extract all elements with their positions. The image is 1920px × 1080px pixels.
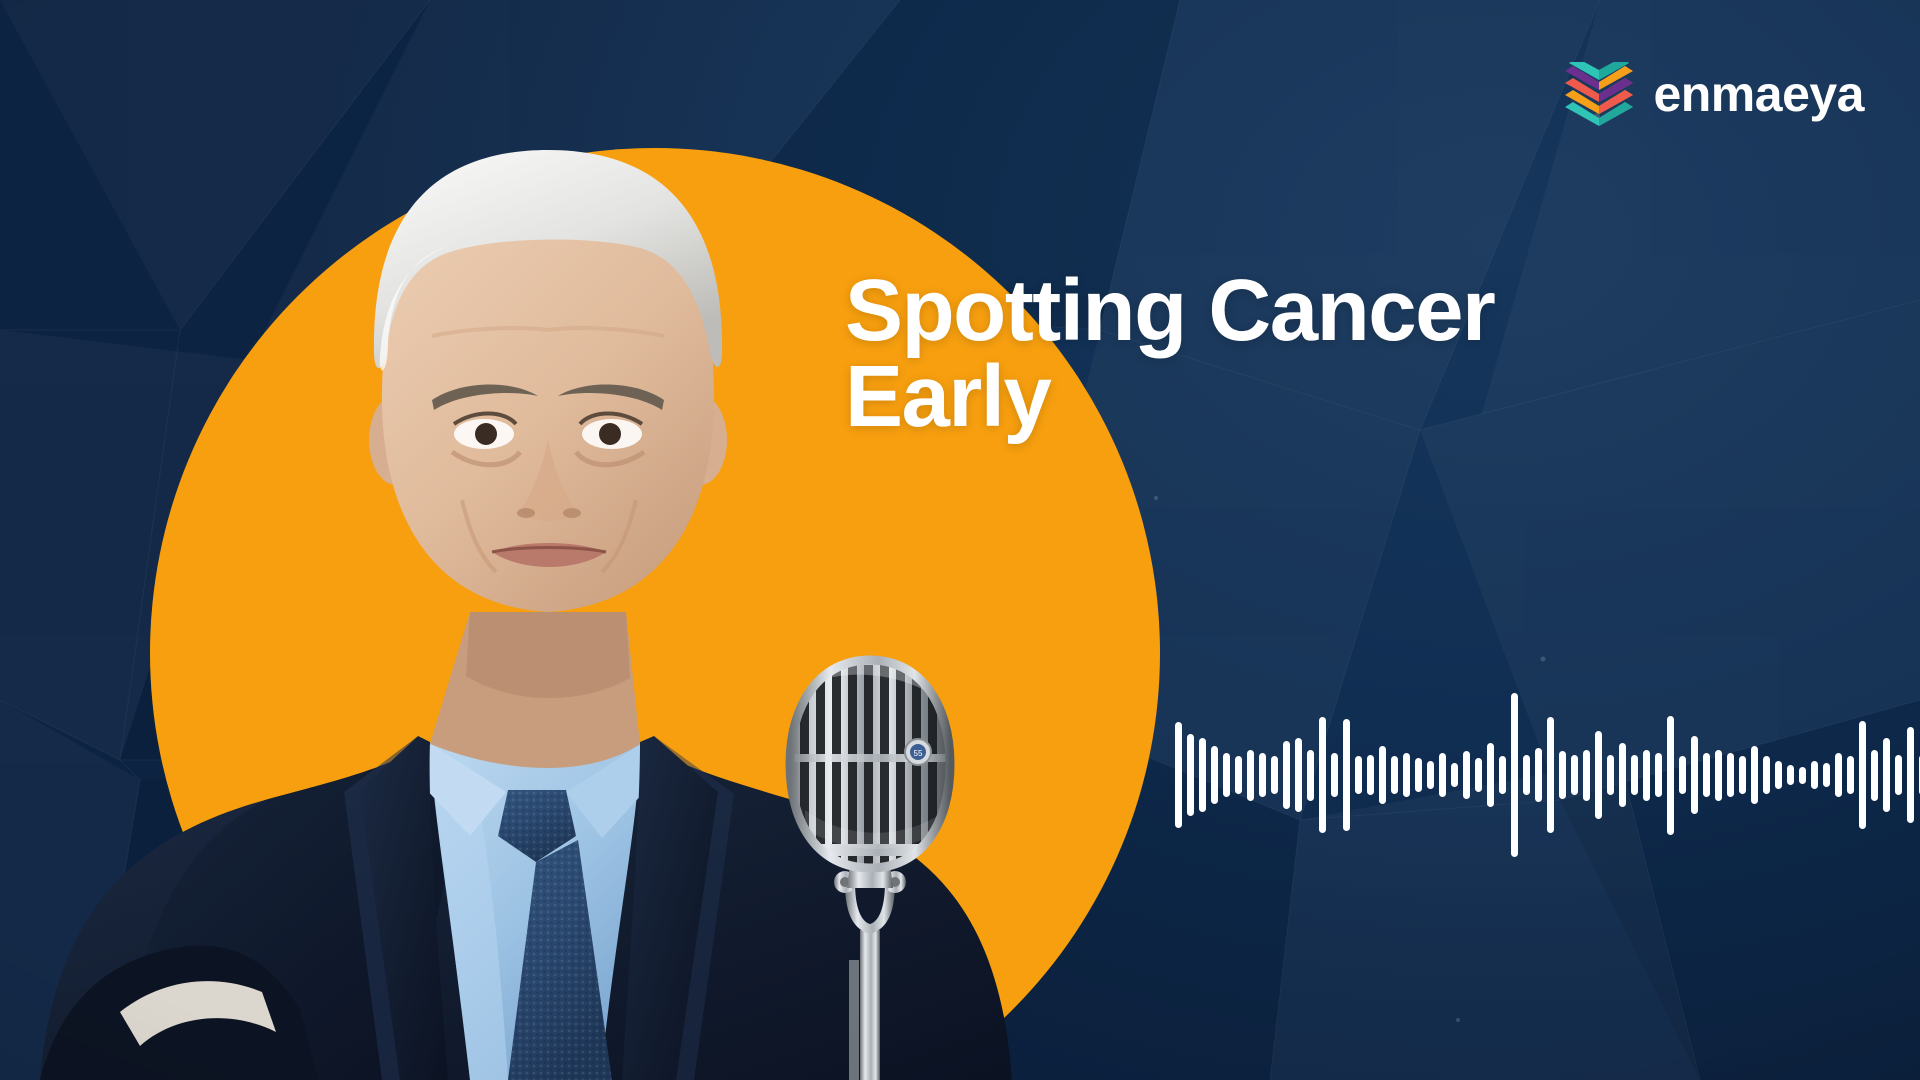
waveform-bar: [1331, 753, 1338, 797]
waveform-bar: [1643, 750, 1650, 801]
waveform-bar: [1451, 763, 1458, 787]
waveform-bar: [1223, 753, 1230, 797]
waveform-bar: [1703, 753, 1710, 797]
retro-microphone-icon: 55: [745, 630, 995, 1080]
waveform-bar: [1883, 738, 1890, 813]
waveform-bar: [1679, 756, 1686, 793]
waveform-bar: [1283, 741, 1290, 809]
waveform-bar: [1367, 755, 1374, 796]
waveform-bar: [1403, 753, 1410, 797]
svg-text:55: 55: [914, 749, 923, 758]
brand-logo[interactable]: enmaeya: [1561, 62, 1864, 126]
waveform-bar: [1499, 756, 1506, 793]
waveform-bar: [1607, 755, 1614, 796]
waveform-bar: [1439, 753, 1446, 797]
waveform-bar: [1571, 755, 1578, 796]
waveform-bar: [1667, 716, 1674, 835]
waveform-bar: [1259, 753, 1266, 797]
waveform-bar: [1307, 750, 1314, 801]
waveform-bar: [1751, 746, 1758, 804]
waveform-bar: [1211, 746, 1218, 804]
waveform-bar: [1715, 750, 1722, 801]
waveform-bar: [1319, 717, 1326, 833]
waveform-bar: [1511, 693, 1518, 856]
waveform-bar: [1487, 743, 1494, 808]
waveform-bar: [1187, 734, 1194, 816]
waveform-bar: [1427, 761, 1434, 788]
stacked-chevron-icon: [1561, 62, 1637, 126]
waveform-bar: [1595, 731, 1602, 819]
waveform-bar: [1811, 761, 1818, 788]
waveform-bar: [1199, 738, 1206, 813]
waveform-bar: [1583, 750, 1590, 801]
waveform-bar: [1835, 753, 1842, 797]
waveform-bar: [1871, 750, 1878, 801]
waveform-bar: [1415, 758, 1422, 792]
waveform-bar: [1391, 756, 1398, 793]
waveform-bar: [1787, 765, 1794, 785]
waveform-bar: [1379, 746, 1386, 804]
brand-name: enmaeya: [1653, 69, 1864, 119]
podcast-cover-canvas: 55 Spotting Cancer Early enmaeya: [0, 0, 1920, 1080]
waveform-bar: [1355, 756, 1362, 793]
waveform-bar: [1691, 736, 1698, 814]
waveform-bar: [1475, 758, 1482, 792]
title-line-2: Early: [845, 354, 1745, 440]
waveform-bar: [1619, 743, 1626, 808]
waveform-bar: [1907, 727, 1914, 822]
waveform-bar: [1343, 719, 1350, 831]
waveform-bar: [1235, 756, 1242, 793]
waveform-bar: [1847, 756, 1854, 793]
waveform-bar: [1727, 753, 1734, 797]
waveform-bar: [1799, 767, 1806, 784]
waveform-bar: [1763, 756, 1770, 793]
waveform-bar: [1271, 756, 1278, 793]
waveform-bar: [1175, 722, 1182, 827]
waveform-bar: [1247, 750, 1254, 801]
audio-waveform: [1175, 690, 1920, 860]
page-title: Spotting Cancer Early: [845, 268, 1745, 440]
waveform-bar: [1895, 755, 1902, 796]
waveform-bar: [1559, 751, 1566, 799]
waveform-bar: [1295, 738, 1302, 813]
waveform-bar: [1631, 755, 1638, 796]
waveform-bar: [1859, 721, 1866, 830]
waveform-bar: [1823, 763, 1830, 787]
waveform-bar: [1547, 717, 1554, 833]
waveform-bar: [1523, 755, 1530, 796]
waveform-bar: [1655, 753, 1662, 797]
waveform-bar: [1535, 748, 1542, 802]
waveform-bar: [1775, 761, 1782, 788]
waveform-bar: [1739, 756, 1746, 793]
waveform-bar: [1463, 751, 1470, 799]
title-line-1: Spotting Cancer: [845, 268, 1745, 354]
